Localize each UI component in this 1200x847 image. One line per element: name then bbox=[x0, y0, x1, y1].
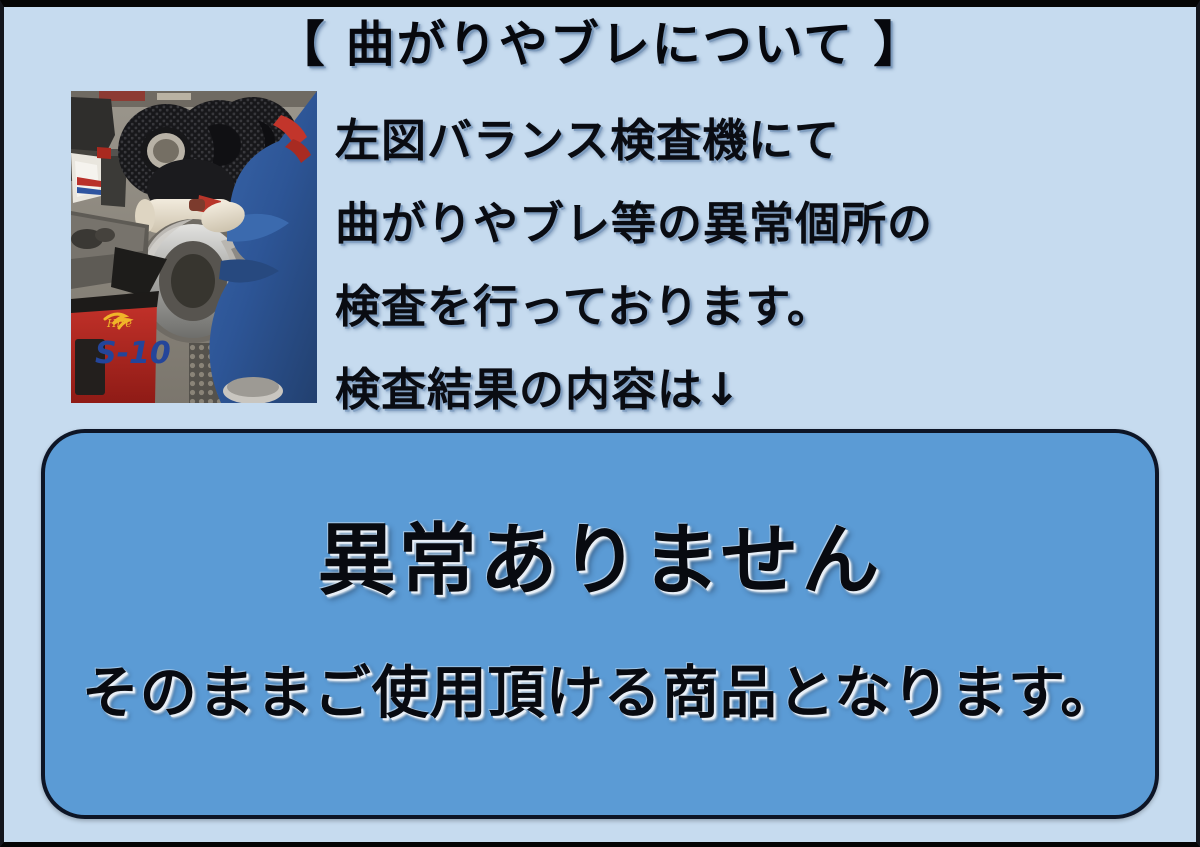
result-headline: 異常ありません bbox=[45, 519, 1155, 605]
body-line-2: 曲がりやブレ等の異常個所の bbox=[335, 182, 1155, 265]
result-subtext: そのままご使用頂ける商品となります。 bbox=[45, 661, 1155, 727]
inspection-notice-poster: 【 曲がりやブレについて 】 bbox=[0, 0, 1200, 847]
page-title: 【 曲がりやブレについて 】 bbox=[4, 19, 1196, 70]
body-copy: 左図バランス検査機にて 曲がりやブレ等の異常個所の 検査を行っております。 検査… bbox=[335, 99, 1155, 431]
poster-sheet: 【 曲がりやブレについて 】 bbox=[4, 7, 1196, 842]
wheel-balancer-inspection-photo: Hire S-10 bbox=[71, 91, 317, 403]
inspection-result-box: 異常ありません そのままご使用頂ける商品となります。 bbox=[41, 429, 1159, 819]
body-line-3: 検査を行っております。 bbox=[335, 265, 1155, 348]
svg-text:S-10: S-10 bbox=[95, 336, 171, 371]
photo-illustration: Hire S-10 bbox=[71, 91, 317, 403]
svg-text:Hire: Hire bbox=[106, 317, 132, 330]
body-line-1: 左図バランス検査機にて bbox=[335, 99, 1155, 182]
body-line-4: 検査結果の内容は↓ bbox=[335, 348, 1155, 431]
